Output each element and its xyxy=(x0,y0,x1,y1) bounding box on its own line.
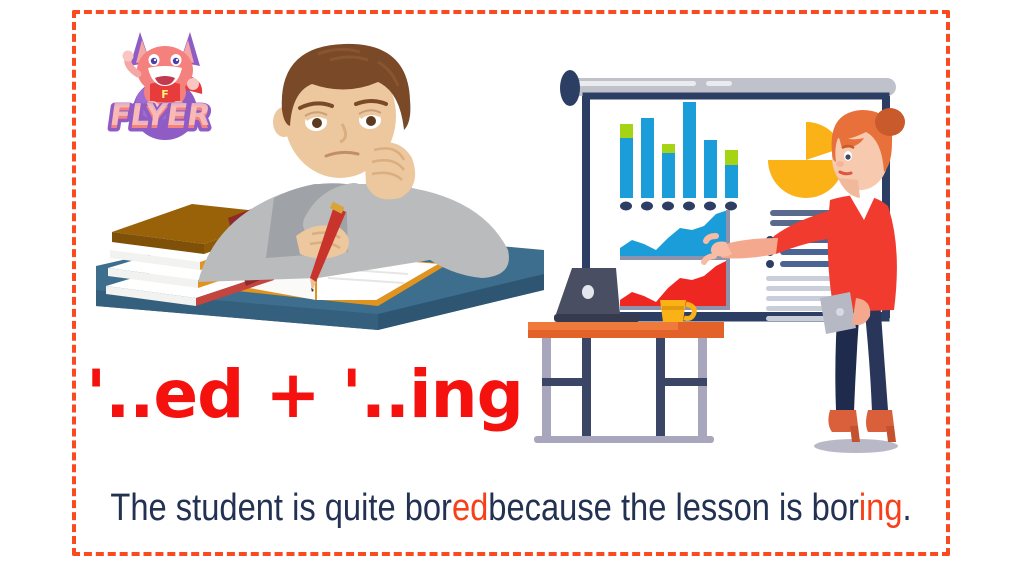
student-head xyxy=(273,44,415,199)
sentence-segment-2: because the lesson is bor xyxy=(488,487,859,530)
presentation-illustration xyxy=(520,60,940,460)
student-body xyxy=(198,183,509,282)
sentence-highlight-ing: ing xyxy=(859,487,903,530)
page-title: '..ed + '..ing xyxy=(86,352,556,436)
example-sentence: The student is quite bored because the l… xyxy=(133,480,888,536)
sentence-highlight-ed: ed xyxy=(452,487,488,530)
sentence-segment-3: . xyxy=(903,487,912,530)
bored-student-illustration xyxy=(78,38,548,346)
title-text: '..ed + '..ing xyxy=(86,356,523,433)
flashcard-slide: F FLYER FLYER FLYER xyxy=(0,0,1024,576)
sentence-segment-1: The student is quite bor xyxy=(110,487,452,530)
